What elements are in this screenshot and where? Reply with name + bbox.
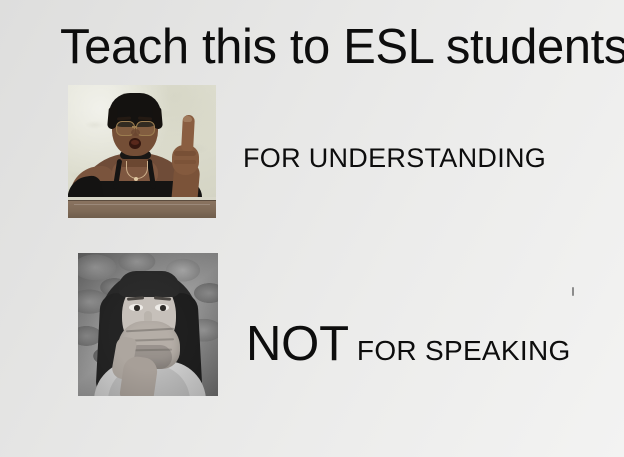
- photo1-fingernail: [183, 116, 192, 122]
- photo1-nose: [131, 129, 140, 136]
- photo1-knuckle-lower: [174, 160, 196, 164]
- photo1-glasses-bridge: [132, 126, 137, 128]
- stray-tick-mark: [572, 287, 574, 296]
- caption-for-understanding: FOR UNDERSTANDING: [243, 143, 546, 174]
- caption-not-for-speaking: NOT FOR SPEAKING: [246, 320, 571, 369]
- photo1-mouth-highlight: [131, 140, 139, 145]
- photo1-laptop-lid: [68, 200, 216, 218]
- photo1-knuckle-upper: [174, 151, 196, 156]
- photo1-laptop-hinge-line: [74, 204, 210, 205]
- caption-rest-for-speaking: FOR SPEAKING: [349, 335, 571, 366]
- slide-canvas: Teach this to ESL students: [0, 0, 624, 457]
- image-woman-covering-mouth: [78, 253, 218, 396]
- photo1-pendant: [134, 177, 138, 181]
- image-pointing-woman: [68, 85, 216, 218]
- page-title: Teach this to ESL students: [60, 20, 605, 75]
- caption-emphasis-not: NOT: [246, 317, 349, 371]
- photo2-vignette: [78, 253, 218, 396]
